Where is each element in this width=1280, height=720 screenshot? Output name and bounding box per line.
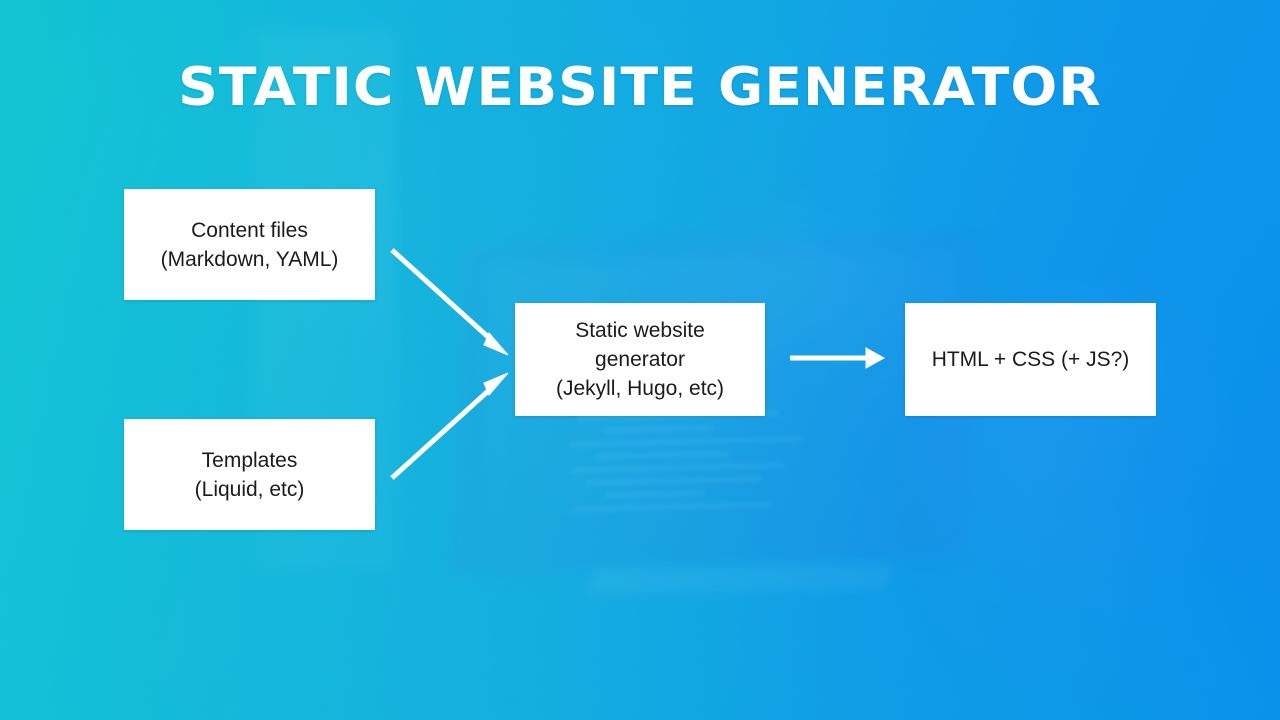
- node-line: generator: [556, 345, 724, 374]
- node-line: (Liquid, etc): [195, 475, 305, 504]
- flow-node-generator: Static website generator (Jekyll, Hugo, …: [515, 303, 765, 416]
- flow-node-templates: Templates (Liquid, etc): [124, 419, 375, 530]
- node-line: HTML + CSS (+ JS?): [932, 345, 1130, 374]
- node-line: Content files: [161, 216, 339, 245]
- flow-node-output: HTML + CSS (+ JS?): [905, 303, 1156, 416]
- node-line: (Jekyll, Hugo, etc): [556, 374, 724, 403]
- page-title: Static website generator: [0, 58, 1280, 118]
- node-line: Static website: [556, 316, 724, 345]
- slide-canvas: Static website generator Content files (…: [0, 0, 1280, 720]
- flow-node-content-files: Content files (Markdown, YAML): [124, 189, 375, 300]
- node-line: Templates: [195, 446, 305, 475]
- node-line: (Markdown, YAML): [161, 245, 339, 274]
